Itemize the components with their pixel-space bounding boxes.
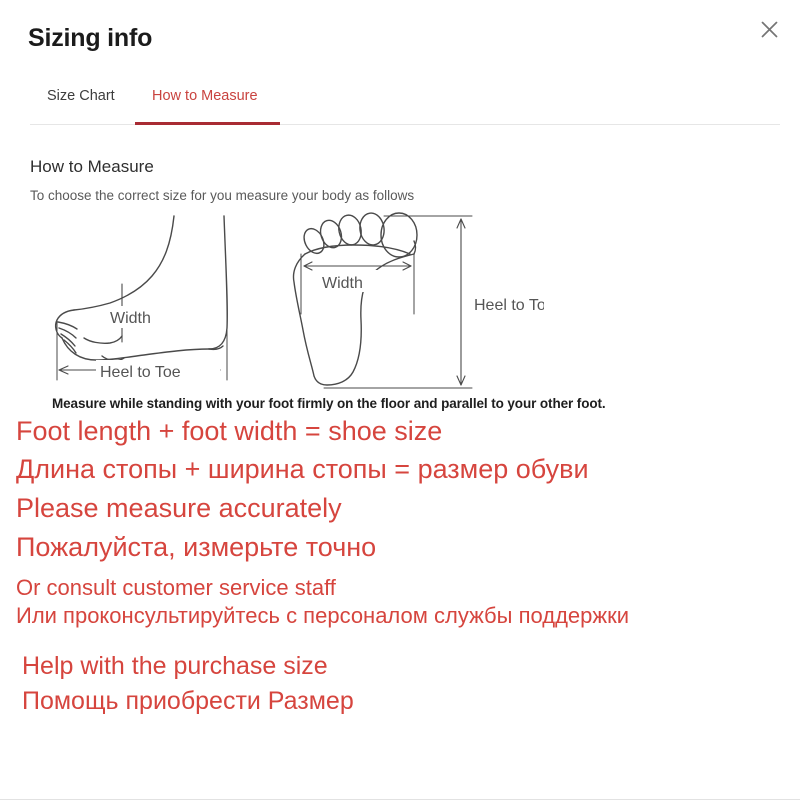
top-view-length-label: Heel to Toe bbox=[474, 297, 544, 314]
section-heading: How to Measure bbox=[30, 157, 154, 177]
close-icon[interactable] bbox=[752, 12, 786, 46]
section-subheading: To choose the correct size for you measu… bbox=[30, 188, 414, 203]
promo-line-2: Длина стопы + ширина стопы = размер обув… bbox=[16, 456, 800, 483]
tab-how-to-measure[interactable]: How to Measure bbox=[152, 88, 258, 116]
side-view-length-label: Heel to Toe bbox=[100, 364, 181, 381]
promo-line-6: Или проконсультируйтесь с персоналом слу… bbox=[16, 605, 800, 627]
sizing-info-modal: Sizing info Size Chart How to Measure Ho… bbox=[0, 0, 800, 800]
top-view-width-label: Width bbox=[322, 275, 363, 292]
tab-size-chart[interactable]: Size Chart bbox=[47, 88, 115, 116]
promo-line-1: Foot length + foot width = shoe size bbox=[16, 418, 800, 445]
side-view-width-label: Width bbox=[110, 310, 151, 327]
promo-line-3: Please measure accurately bbox=[16, 495, 800, 522]
tab-active-indicator bbox=[135, 122, 280, 125]
promo-line-7: Help with the purchase size bbox=[22, 654, 800, 679]
promo-text-block: Foot length + foot width = shoe size Дли… bbox=[16, 418, 800, 714]
diagram-caption: Measure while standing with your foot fi… bbox=[52, 396, 606, 411]
promo-line-5: Or consult customer service staff bbox=[16, 577, 800, 599]
measurement-diagrams: Width Heel to Toe Width Heel to Toe bbox=[24, 210, 544, 390]
page-title: Sizing info bbox=[28, 24, 152, 53]
promo-line-8: Помощь приобрести Размер bbox=[22, 689, 800, 714]
promo-line-4: Пожалуйста, измерьте точно bbox=[16, 534, 800, 561]
tab-bar: Size Chart How to Measure bbox=[30, 88, 780, 128]
